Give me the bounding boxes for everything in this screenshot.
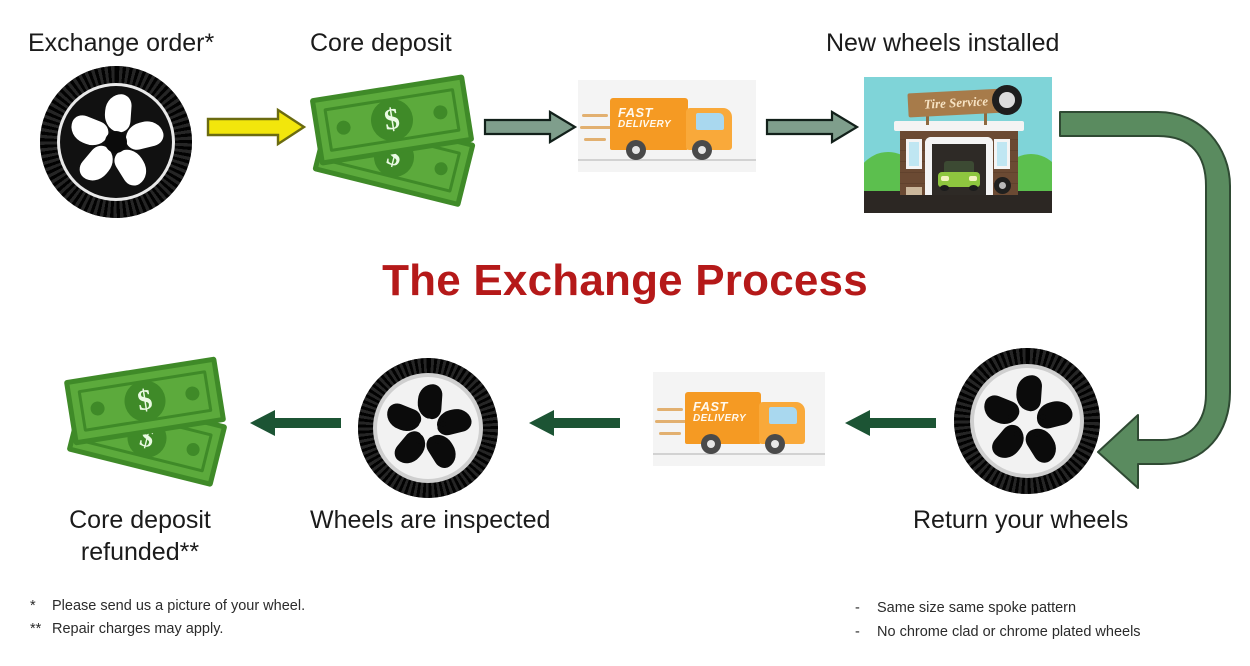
arrow-shipping-to-install bbox=[766, 110, 858, 144]
page-title: The Exchange Process bbox=[0, 256, 1250, 306]
truck-label-line1: FAST bbox=[618, 106, 671, 120]
money-icon-refund: $ $ bbox=[58, 352, 238, 492]
lug-nut bbox=[1024, 402, 1030, 408]
lug-nut bbox=[124, 153, 131, 160]
lug-nut bbox=[1014, 431, 1020, 437]
truck-window bbox=[769, 407, 797, 424]
label-wheels-are-inspected: Wheels are inspected bbox=[310, 505, 550, 537]
arrow-inspection-to-refund bbox=[248, 408, 342, 438]
wheel-icon-exchange-order bbox=[40, 66, 192, 218]
footnote-left-1: *Please send us a picture of your wheel. bbox=[30, 598, 305, 614]
footnote-marker: - bbox=[855, 600, 877, 616]
label-core-deposit: Core deposit bbox=[310, 28, 452, 60]
rim-hub bbox=[1017, 411, 1037, 431]
footnote-marker: * bbox=[30, 598, 52, 614]
rim-face bbox=[377, 377, 479, 479]
delivery-truck-icon-return: FAST DELIVERY bbox=[653, 372, 825, 466]
lug-nut bbox=[435, 438, 441, 444]
truck-label-line2: DELIVERY bbox=[693, 414, 746, 425]
delivery-truck-icon-outbound: FAST DELIVERY bbox=[578, 80, 756, 172]
arrow-return-to-shipping bbox=[843, 408, 937, 438]
arrow-shipping-to-inspection bbox=[527, 408, 621, 438]
truck-wheel bbox=[765, 434, 785, 454]
label-new-wheels-installed: New wheels installed bbox=[826, 28, 1059, 60]
label-return-your-wheels: Return your wheels bbox=[913, 505, 1128, 537]
speed-line bbox=[582, 114, 608, 117]
truck-road-line bbox=[653, 453, 825, 455]
car-wheel bbox=[940, 185, 949, 191]
speed-line bbox=[657, 408, 683, 411]
rim-face bbox=[60, 86, 172, 198]
lug-nut bbox=[416, 438, 422, 444]
truck-wheel bbox=[692, 140, 712, 160]
wheel-icon-inspected bbox=[358, 358, 498, 498]
truck-label-line2: DELIVERY bbox=[618, 120, 671, 131]
lug-nut bbox=[95, 135, 102, 142]
garage-car bbox=[938, 161, 980, 191]
footnote-text: Please send us a picture of your wheel. bbox=[52, 598, 305, 614]
footnote-text: Same size same spoke pattern bbox=[877, 600, 1076, 616]
arrow-order-to-deposit bbox=[206, 108, 306, 146]
sign-tire-icon bbox=[992, 85, 1022, 115]
truck-label: FAST DELIVERY bbox=[693, 400, 746, 424]
truck-label-line1: FAST bbox=[693, 400, 746, 414]
footnote-right-2: -No chrome clad or chrome plated wheels bbox=[855, 624, 1141, 640]
lug-nut bbox=[425, 410, 431, 416]
footnote-marker: ** bbox=[30, 621, 52, 637]
arrow-deposit-to-shipping bbox=[484, 110, 576, 144]
truck-wheel bbox=[626, 140, 646, 160]
label-core-deposit-refunded: Core deposit refunded** bbox=[40, 505, 240, 568]
infographic-canvas: Exchange order* Core deposit New wheels … bbox=[0, 0, 1250, 666]
lug-nut bbox=[1008, 414, 1014, 420]
wheel-icon-return-wheels bbox=[954, 348, 1100, 494]
car-wheel bbox=[969, 185, 978, 191]
car-headlight bbox=[941, 176, 949, 181]
lug-nut bbox=[130, 135, 137, 142]
truck-label: FAST DELIVERY bbox=[618, 106, 671, 130]
garage-sign-board: Tire Service bbox=[907, 89, 1004, 118]
rim-hub bbox=[105, 131, 127, 153]
garage-spare-tire bbox=[994, 177, 1011, 194]
truck-wheel bbox=[701, 434, 721, 454]
lug-nut bbox=[102, 153, 109, 160]
lug-nut bbox=[1034, 431, 1040, 437]
lug-nut bbox=[113, 122, 120, 129]
footnote-marker: - bbox=[855, 624, 877, 640]
label-refund-line1: Core deposit bbox=[40, 505, 240, 537]
car-headlight bbox=[969, 176, 977, 181]
label-exchange-order: Exchange order* bbox=[28, 28, 214, 60]
footnote-text: Repair charges may apply. bbox=[52, 621, 223, 637]
rim-hub bbox=[419, 419, 438, 438]
garage-window-right bbox=[994, 139, 1010, 169]
garage-window-left bbox=[906, 139, 922, 169]
lug-nut bbox=[440, 421, 446, 427]
garage-sign-text: Tire Service bbox=[924, 93, 989, 112]
garage-roof bbox=[894, 121, 1024, 131]
footnote-right-1: -Same size same spoke pattern bbox=[855, 600, 1076, 616]
rim-face bbox=[974, 368, 1080, 474]
truck-window bbox=[696, 113, 724, 130]
speed-line bbox=[659, 432, 681, 435]
speed-line bbox=[655, 420, 687, 423]
tire-service-garage-icon: Tire Service bbox=[864, 77, 1052, 213]
speed-line bbox=[580, 126, 612, 129]
lug-nut bbox=[1040, 414, 1046, 420]
garage-crate bbox=[906, 187, 922, 195]
truck-road-line bbox=[578, 159, 756, 161]
speed-line bbox=[584, 138, 606, 141]
footnote-text: No chrome clad or chrome plated wheels bbox=[877, 624, 1141, 640]
label-refund-line2: refunded** bbox=[40, 537, 240, 569]
footnote-left-2: **Repair charges may apply. bbox=[30, 621, 223, 637]
money-icon-core-deposit: $ $ bbox=[306, 72, 486, 212]
lug-nut bbox=[410, 421, 416, 427]
